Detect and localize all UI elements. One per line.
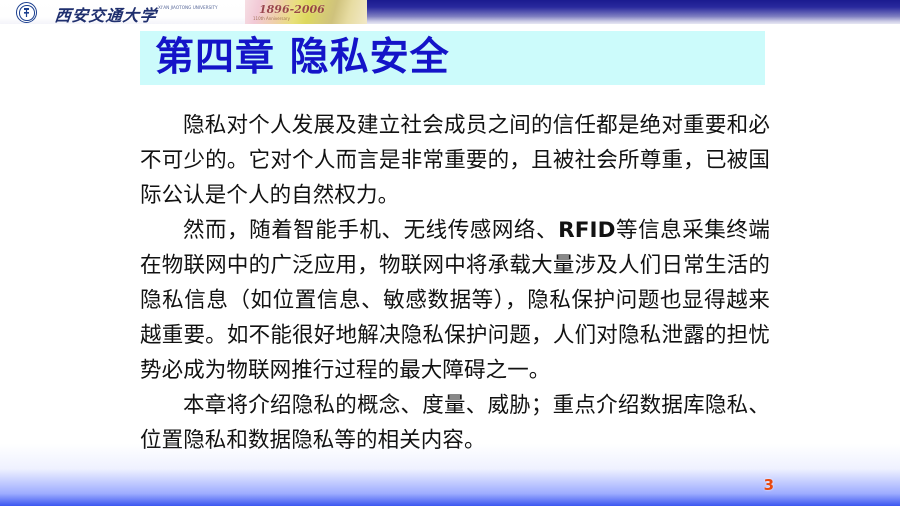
university-seal-icon xyxy=(16,2,37,23)
anniversary-subtitle-label: 110th Anniversary xyxy=(253,16,290,21)
slide-title: 第四章 隐私安全 xyxy=(155,36,450,80)
anniversary-years-label: 1896-2006 xyxy=(259,3,325,16)
paragraph-2-lead-text: 然而，随着智能手机、无线传感网络、 xyxy=(183,218,558,243)
body-paragraph-2: 然而，随着智能手机、无线传感网络、RFID等信息采集终端在物联网中的广泛应用，物… xyxy=(140,213,770,388)
rfid-term: RFID xyxy=(558,218,616,243)
university-name-english: XI'AN JIAOTONG UNIVERSITY xyxy=(158,5,218,10)
footer-gradient xyxy=(0,444,900,506)
body-paragraph-1: 隐私对个人发展及建立社会成员之间的信任都是绝对重要和必不可少的。它对个人而言是非… xyxy=(140,108,770,213)
slide-body: 隐私对个人发展及建立社会成员之间的信任都是绝对重要和必不可少的。它对个人而言是非… xyxy=(140,108,770,458)
slide-canvas: 西安交通大学 XI'AN JIAOTONG UNIVERSITY 1896-20… xyxy=(0,0,900,506)
university-name-chinese: 西安交通大学 xyxy=(54,2,159,24)
anniversary-graphic: 1896-2006 110th Anniversary xyxy=(245,0,367,24)
header-banner: 西安交通大学 XI'AN JIAOTONG UNIVERSITY 1896-20… xyxy=(0,0,900,24)
page-number: 3 xyxy=(764,476,774,494)
